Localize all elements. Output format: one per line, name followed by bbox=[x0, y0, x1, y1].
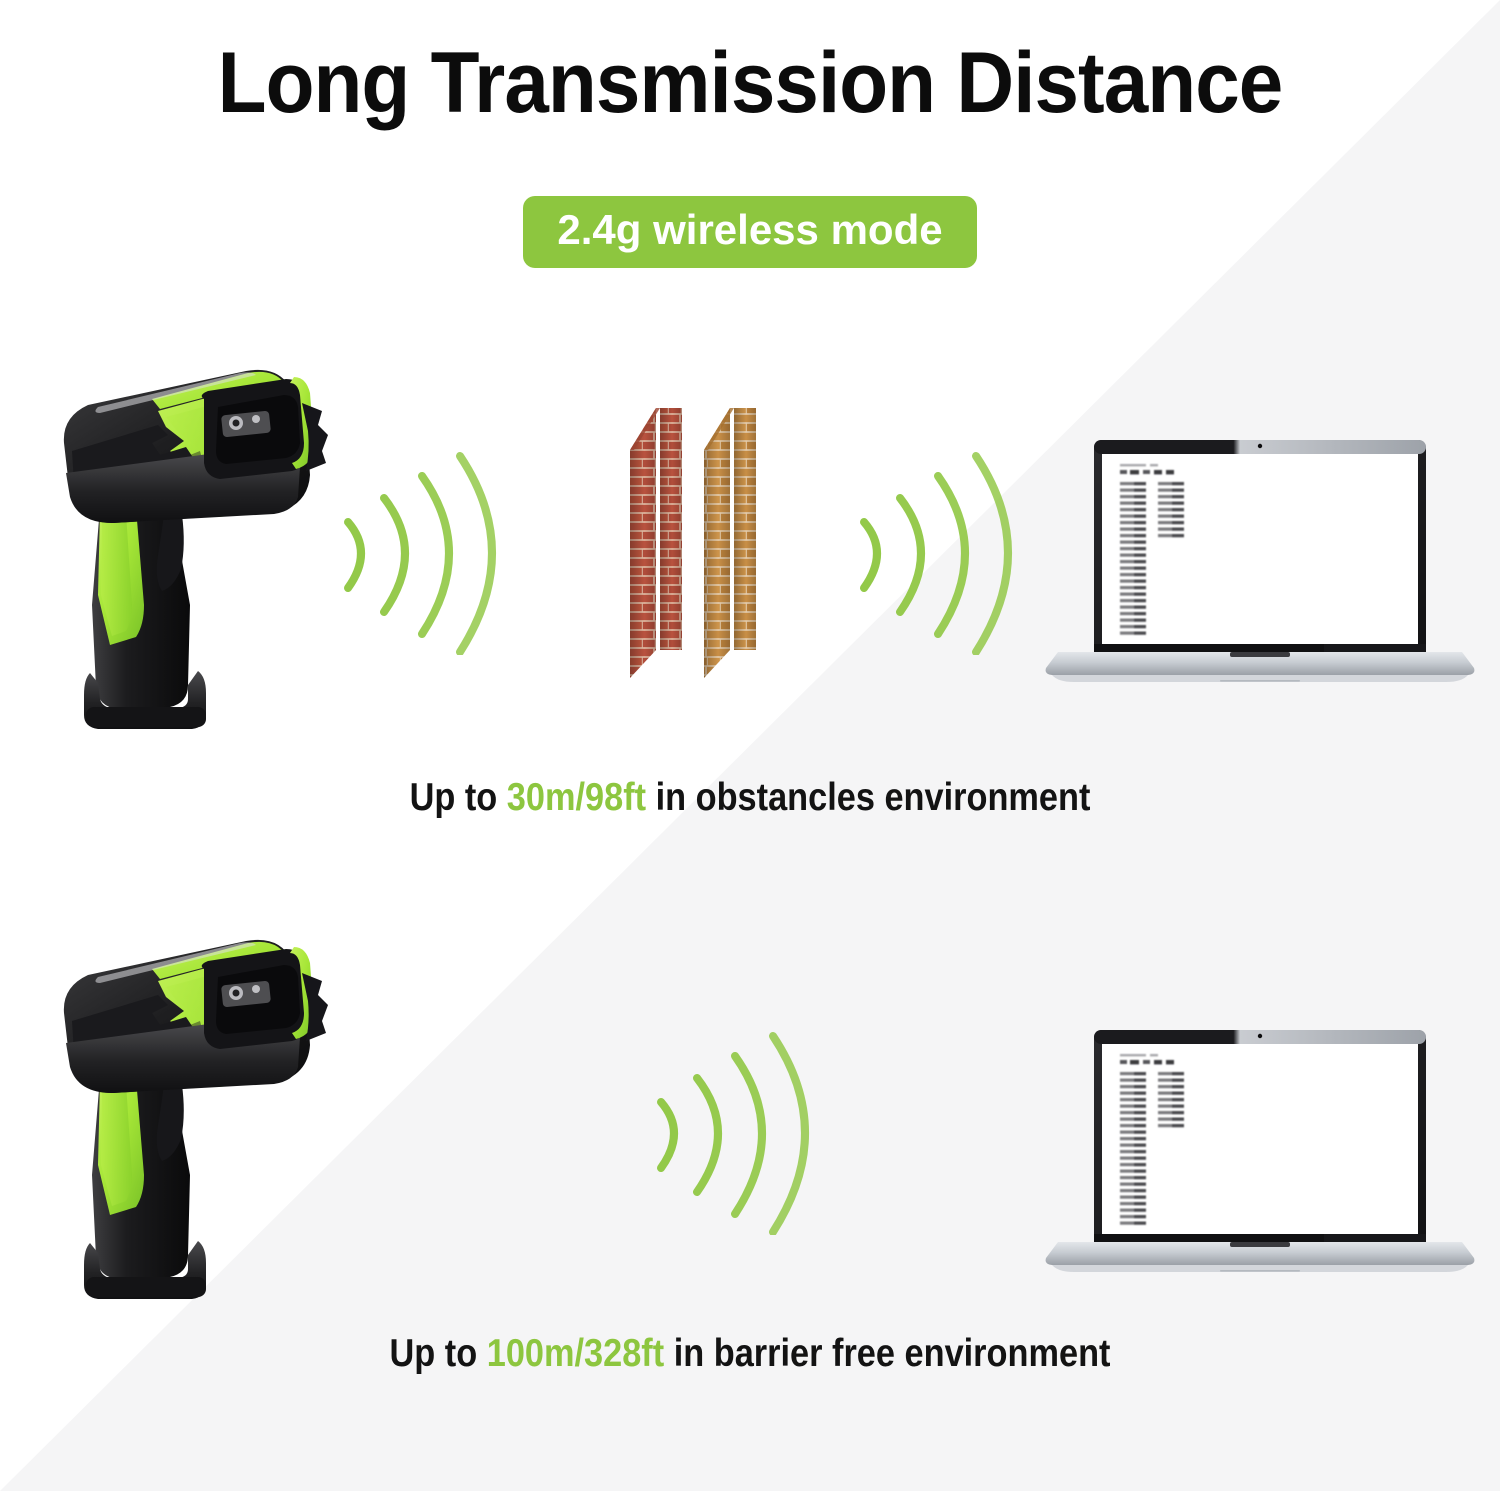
caption-row2-suffix: in barrier free environment bbox=[664, 1332, 1110, 1375]
caption-row2: Up to 100m/328ft in barrier free environ… bbox=[90, 1332, 1410, 1376]
caption-row1-distance: 30m/98ft bbox=[507, 776, 646, 819]
laptop-row2 bbox=[1044, 1022, 1476, 1274]
brick-panel-4 bbox=[734, 408, 756, 650]
page-title: Long Transmission Distance bbox=[53, 34, 1448, 133]
brick-wall-obstacle bbox=[628, 378, 788, 678]
barcode-scanner-row1 bbox=[40, 355, 330, 735]
wireless-waves-row2 bbox=[645, 1030, 830, 1235]
caption-row1: Up to 30m/98ft in obstancles environment bbox=[90, 776, 1410, 820]
barcode-scanner-row2 bbox=[40, 925, 330, 1305]
caption-row1-prefix: Up to bbox=[410, 776, 507, 819]
mode-badge: 2.4g wireless mode bbox=[523, 196, 976, 268]
wireless-waves-row1-left bbox=[332, 450, 517, 655]
wireless-waves-row1-right bbox=[848, 450, 1033, 655]
caption-row2-prefix: Up to bbox=[390, 1332, 487, 1375]
laptop-row1 bbox=[1044, 432, 1476, 684]
brick-panel-2 bbox=[660, 408, 682, 650]
caption-row2-distance: 100m/328ft bbox=[487, 1332, 664, 1375]
mode-badge-container: 2.4g wireless mode bbox=[0, 196, 1500, 268]
caption-row1-suffix: in obstancles environment bbox=[646, 776, 1090, 819]
infographic-canvas: Long Transmission Distance 2.4g wireless… bbox=[0, 0, 1500, 1491]
